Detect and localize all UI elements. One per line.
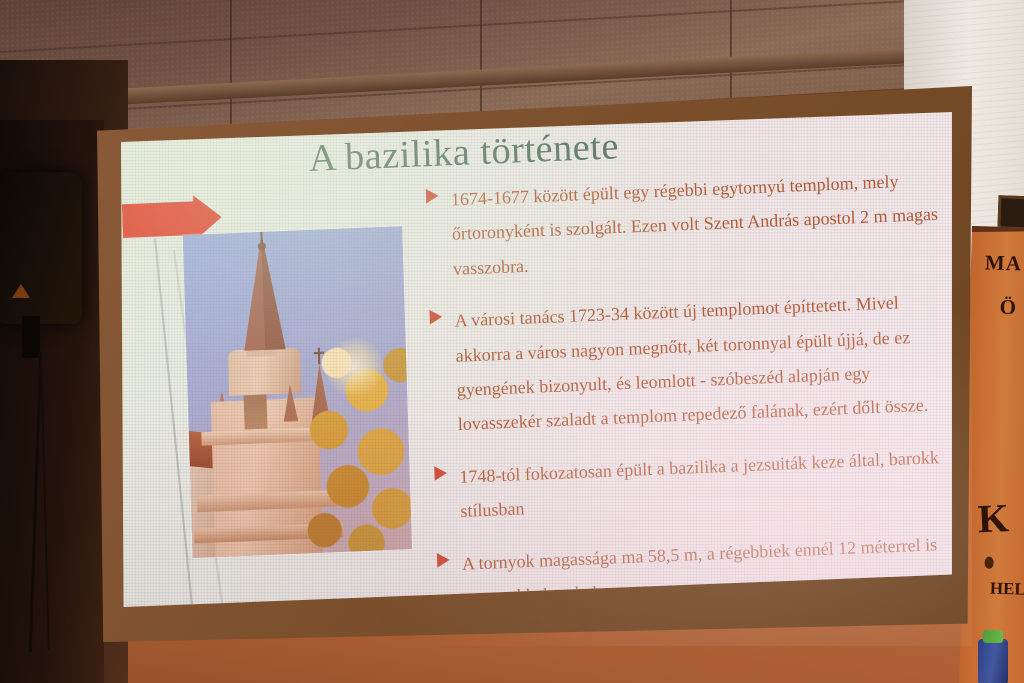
basilica-tower-photo (183, 226, 412, 558)
water-bottle-cap (983, 630, 1003, 643)
wall-picture-frame (997, 195, 1024, 230)
poster-bullet-icon (984, 556, 993, 568)
poster-line-3: K (977, 494, 1010, 542)
poster-line-2: Ö (999, 295, 1016, 320)
slide-content: A bazilika története (116, 112, 952, 612)
bullet-arrow-icon (437, 552, 450, 567)
bullet-arrow-icon (434, 466, 447, 481)
wall-speaker (0, 172, 82, 324)
poster-line-4: HEL (990, 579, 1024, 600)
poster-line-1: MA (985, 250, 1023, 276)
list-item-text: 1674-1677 között épült egy régebbi egyto… (451, 171, 939, 279)
speaker-triangle-icon (12, 284, 30, 298)
list-item: 1674-1677 között épült egy régebbi egyto… (426, 162, 952, 287)
photo-spire-cross-bar (255, 226, 267, 228)
screen-surface: A bazilika története (116, 112, 952, 612)
list-item-text: 1748-tól fokozatosan épült a bazilika a … (459, 446, 939, 521)
water-bottle (978, 639, 1008, 683)
poster-top-rail (968, 226, 1024, 232)
photo-color-cast (183, 226, 412, 558)
list-item-text: A városi tanács 1723-34 között új templo… (454, 292, 928, 435)
list-item: A városi tanács 1723-34 között új templo… (429, 284, 952, 444)
bullet-list: 1674-1677 között épült egy régebbi egyto… (426, 162, 952, 612)
speaker-bracket (22, 316, 40, 358)
list-item: 1748-tól fokozatosan épült a bazilika a … (434, 439, 952, 530)
bullet-arrow-icon (429, 310, 442, 325)
bullet-arrow-icon (426, 188, 439, 203)
projected-slide-photo: MA Ö K HEL A bazilika története (0, 0, 1024, 683)
projection-screen: A bazilika története (90, 86, 972, 646)
